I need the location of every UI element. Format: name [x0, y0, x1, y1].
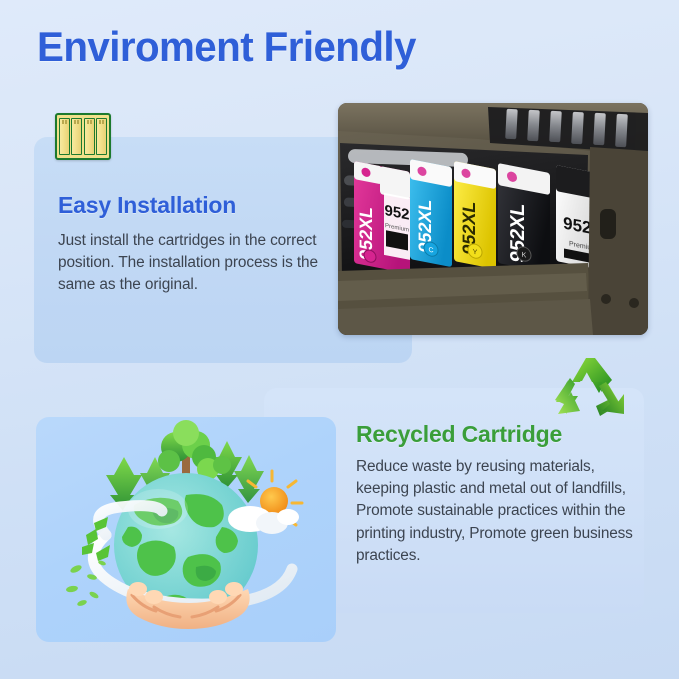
cartridge-bar-2 — [71, 118, 82, 155]
page-title: Enviroment Friendly — [37, 23, 416, 71]
ink-cartridge-chip-icon — [55, 113, 111, 160]
recycled-cartridge-body: Reduce waste by reusing materials, keepi… — [356, 456, 636, 567]
cartridge-bar-4 — [96, 118, 107, 155]
recycle-arrows-icon — [546, 356, 628, 420]
easy-installation-body: Just install the cartridges in the corre… — [58, 230, 328, 296]
svg-text:Y: Y — [473, 249, 478, 257]
cartridge-bar-1 — [59, 118, 70, 155]
recycled-cartridge-heading: Recycled Cartridge — [356, 421, 562, 448]
printer-cartridge-bay-photo: 952X Premium 952XL K 952XL Y 952 — [338, 103, 648, 335]
svg-text:K: K — [522, 252, 527, 260]
printer-photo-svg: 952X Premium 952XL K 952XL Y 952 — [338, 103, 648, 335]
earth-illustration-svg — [36, 417, 336, 642]
svg-text:C: C — [428, 247, 433, 255]
cartridge-bar-3 — [84, 118, 95, 155]
earth-in-hands-illustration — [36, 417, 336, 642]
easy-installation-heading: Easy Installation — [58, 192, 236, 219]
recycle-icon-svg — [546, 356, 628, 420]
